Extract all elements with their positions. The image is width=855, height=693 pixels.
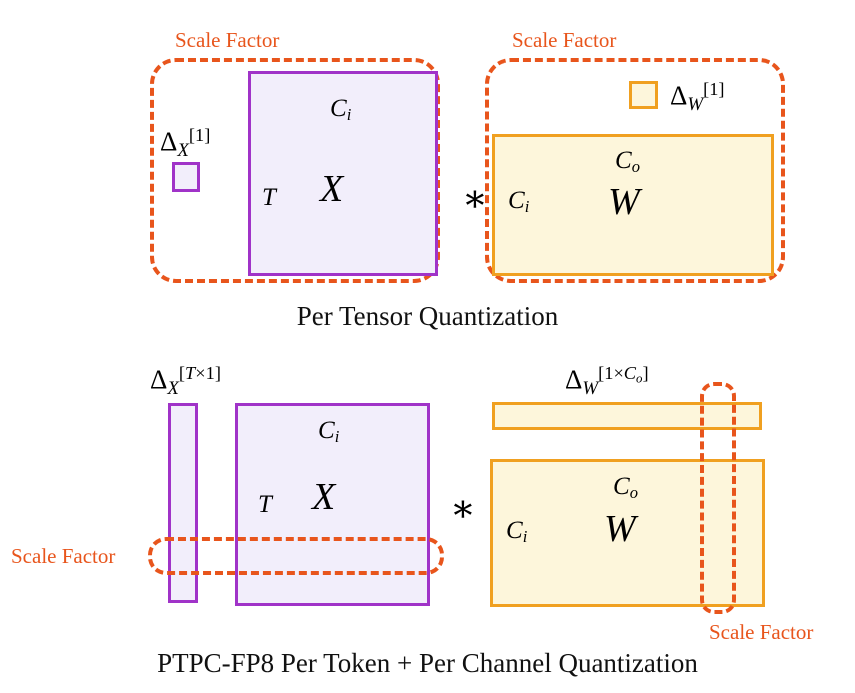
bottom-right-scale-factor-label: Scale Factor (709, 622, 813, 643)
delta-superscript: [T×1] (179, 363, 221, 383)
bottom-weight-row-dim-label: Ci (506, 518, 527, 546)
bottom-multiply-operator: ∗ (450, 490, 476, 528)
top-weight-col-dim-label: Co (615, 148, 640, 176)
bottom-left-scale-factor-label: Scale Factor (11, 546, 115, 567)
bottom-weight-delta-label: ΔW[1×Co] (565, 364, 649, 399)
bottom-activation-col-dim-label: Ci (318, 418, 339, 446)
top-weight-scale-square (629, 81, 658, 109)
delta-glyph: Δ (160, 127, 177, 157)
bottom-weight-col-dim-label: Co (613, 474, 638, 502)
top-activation-col-dim-label: Ci (330, 96, 351, 124)
delta-subscript: W (687, 94, 703, 115)
bottom-activation-tensor-name: X (312, 478, 335, 516)
delta-subscript: X (177, 140, 189, 161)
delta-glyph: Δ (150, 365, 167, 395)
top-activation-scale-square (172, 162, 200, 192)
delta-superscript: [1×Co] (598, 363, 648, 383)
delta-superscript: [1] (189, 125, 210, 145)
bottom-caption: PTPC-FP8 Per Token + Per Channel Quantiz… (0, 650, 855, 677)
top-right-scale-factor-label: Scale Factor (512, 30, 616, 51)
bottom-activation-scale-factor-band (148, 537, 444, 575)
bottom-weight-scale-factor-band (700, 382, 736, 614)
top-activation-row-dim-label: T (262, 185, 276, 210)
bottom-activation-delta-label: ΔX[T×1] (150, 364, 221, 399)
top-multiply-operator: ∗ (462, 180, 488, 218)
top-weight-delta-label: ΔW[1] (670, 80, 725, 115)
top-caption: Per Tensor Quantization (0, 303, 855, 330)
top-weight-tensor-name: W (608, 183, 640, 221)
delta-subscript: W (582, 378, 598, 399)
quantization-diagram: Scale Factor ΔX[1] Ci T X ∗ Scale Factor… (0, 0, 855, 693)
delta-glyph: Δ (565, 365, 582, 395)
delta-glyph: Δ (670, 81, 687, 111)
top-left-scale-factor-label: Scale Factor (175, 30, 279, 51)
bottom-weight-tensor-name: W (604, 510, 636, 548)
delta-superscript: [1] (703, 79, 724, 99)
top-activation-delta-label: ΔX[1] (160, 126, 210, 161)
top-weight-row-dim-label: Ci (508, 188, 529, 216)
delta-subscript: X (167, 378, 179, 399)
bottom-activation-row-dim-label: T (258, 492, 272, 517)
top-activation-tensor-name: X (320, 170, 343, 208)
